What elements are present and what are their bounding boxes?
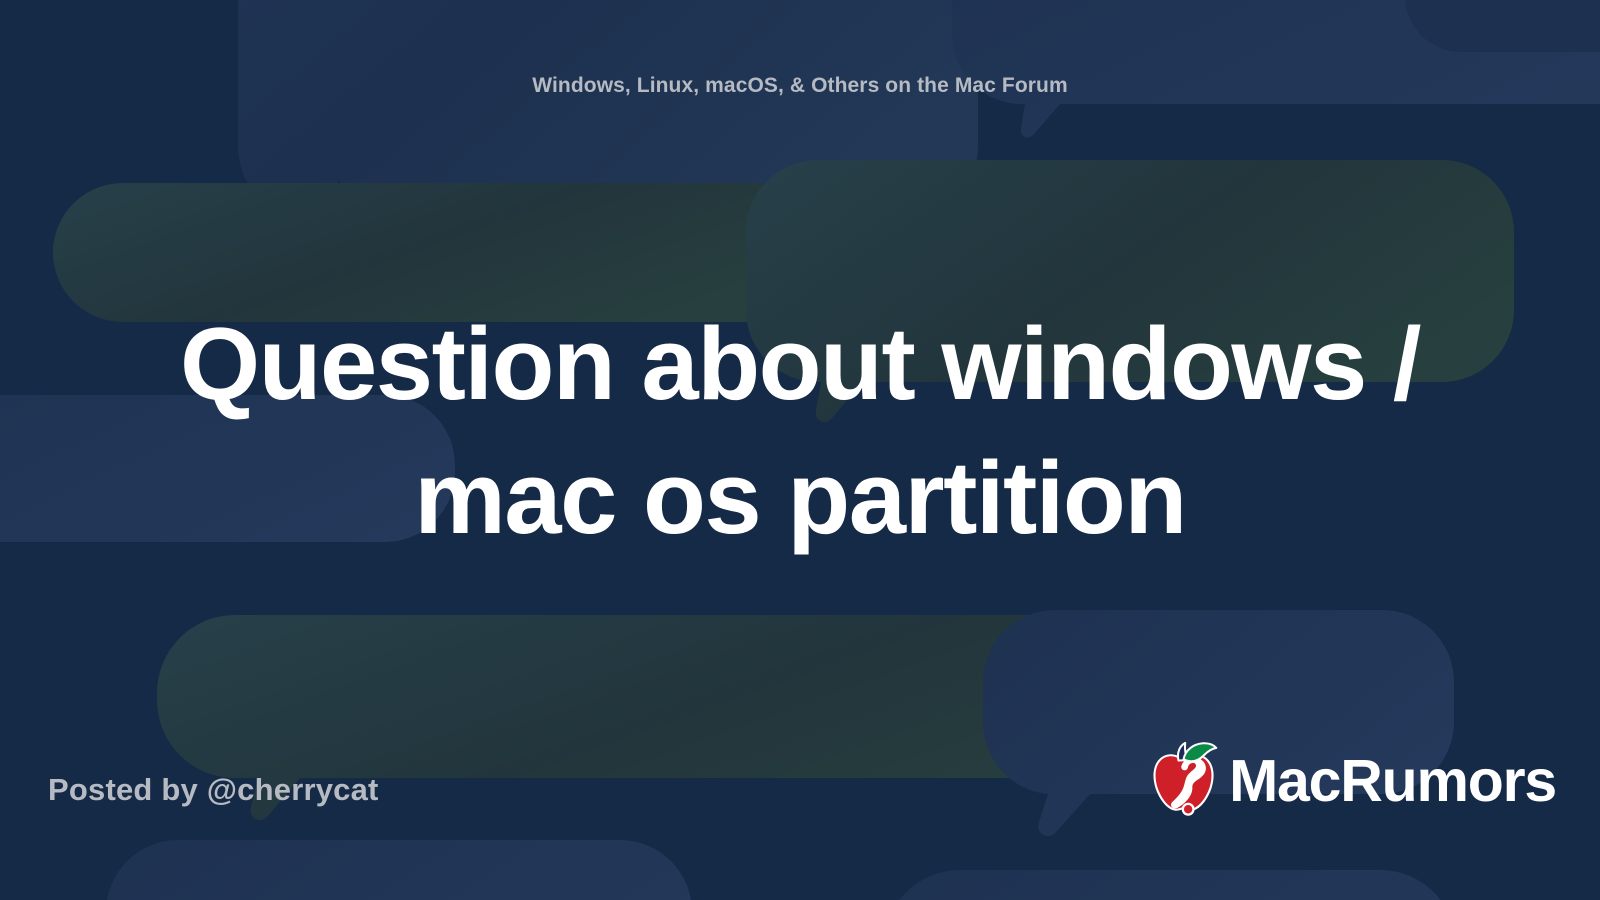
macrumors-share-card: Windows, Linux, macOS, & Others on the M… bbox=[0, 0, 1600, 900]
forum-name: Windows, Linux, macOS, & Others on the M… bbox=[0, 74, 1600, 98]
macrumors-apple-logo-icon bbox=[1139, 737, 1223, 821]
macrumors-brand-lockup: MacRumors bbox=[1139, 737, 1556, 821]
posted-by-label: Posted by @cherrycat bbox=[48, 772, 379, 808]
thread-title: Question about windows / mac os partitio… bbox=[140, 297, 1460, 565]
macrumors-wordmark: MacRumors bbox=[1229, 752, 1556, 811]
